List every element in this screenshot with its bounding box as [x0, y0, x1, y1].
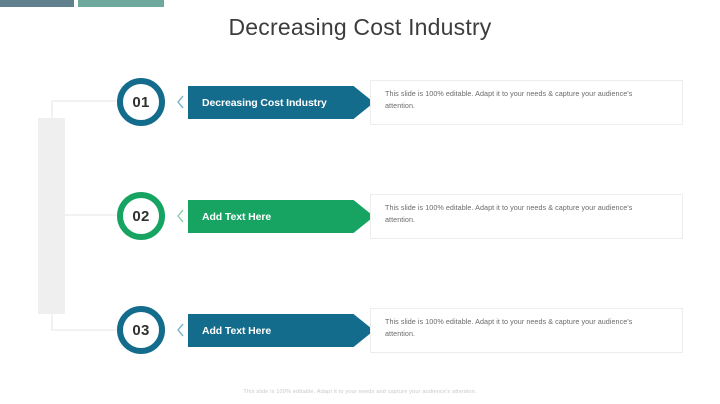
list-item: 01 Decreasing Cost Industry This slide i…: [0, 78, 720, 128]
step-number-label: 01: [132, 94, 149, 111]
top-accent-bar: [0, 0, 164, 7]
chevron-left-icon: [176, 209, 185, 223]
step-number-badge[interactable]: 01: [117, 78, 165, 126]
top-accent-segment-left: [0, 0, 74, 7]
step-arrow-banner[interactable]: Add Text Here: [188, 314, 374, 347]
step-number-badge[interactable]: 03: [117, 306, 165, 354]
page-title: Decreasing Cost Industry: [0, 14, 720, 41]
top-accent-segment-right: [78, 0, 164, 7]
step-arrow-label: Decreasing Cost Industry: [202, 86, 327, 119]
step-arrow-banner[interactable]: Decreasing Cost Industry: [188, 86, 374, 119]
step-number-label: 03: [132, 322, 149, 339]
step-arrow-label: Add Text Here: [202, 200, 271, 233]
description-text: This slide is 100% editable. Adapt it to…: [385, 88, 635, 112]
chevron-left-icon: [176, 95, 185, 109]
list-item: 02 Add Text Here This slide is 100% edit…: [0, 192, 720, 242]
step-arrow-label: Add Text Here: [202, 314, 271, 347]
chevron-left-icon: [176, 323, 185, 337]
description-text: This slide is 100% editable. Adapt it to…: [385, 316, 635, 340]
footer-note: This slide is 100% editable. Adapt it to…: [0, 389, 720, 395]
step-number-label: 02: [132, 208, 149, 225]
step-arrow-banner[interactable]: Add Text Here: [188, 200, 374, 233]
step-number-badge[interactable]: 02: [117, 192, 165, 240]
list-item: 03 Add Text Here This slide is 100% edit…: [0, 306, 720, 356]
description-text: This slide is 100% editable. Adapt it to…: [385, 202, 635, 226]
